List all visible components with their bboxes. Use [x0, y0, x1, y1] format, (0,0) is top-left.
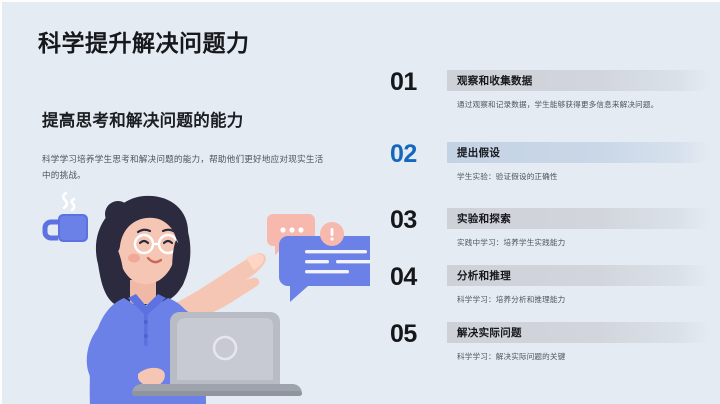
illustration-woman-at-laptop	[20, 188, 370, 404]
item-title-bar: 提出假设	[447, 142, 710, 163]
item-title: 解决实际问题	[457, 325, 522, 340]
item-title-bar: 解决实际问题	[447, 322, 710, 343]
item-description: 实践中学习：培养学生实践能力	[447, 236, 689, 249]
item-description: 科学学习：培养分析和推理能力	[447, 293, 689, 306]
item-body: 提出假设 学生实验：验证假设的正确性	[447, 142, 710, 183]
section-heading: 提高思考和解决问题的能力	[42, 107, 244, 131]
item-body: 分析和推理 科学学习：培养分析和推理能力	[447, 265, 710, 306]
item-body: 观察和收集数据 通过观察和记录数据，学生能够获得更多信息来解决问题。	[447, 70, 710, 111]
item-description: 通过观察和记录数据，学生能够获得更多信息来解决问题。	[447, 98, 689, 111]
item-title-bar: 实验和探索	[447, 208, 710, 229]
slide-canvas: 科学提升解决问题力 提高思考和解决问题的能力 科学学习培养学生思考和解决问题的能…	[0, 0, 720, 404]
item-number: 03	[390, 208, 417, 233]
item-title: 观察和收集数据	[457, 73, 533, 88]
section-body-text: 科学学习培养学生思考和解决问题的能力，帮助他们更好地应对现实生活中的挑战。	[42, 152, 332, 184]
item-number: 04	[390, 265, 417, 290]
item-title-bar: 观察和收集数据	[447, 70, 710, 91]
notification-badge	[320, 222, 344, 246]
item-title: 提出假设	[457, 145, 500, 160]
item-number: 02	[390, 142, 417, 167]
item-body: 解决实际问题 科学学习：解决实际问题的关键	[447, 322, 710, 363]
item-description: 学生实验：验证假设的正确性	[447, 170, 689, 183]
steam-icon	[63, 193, 74, 210]
item-body: 实验和探索 实践中学习：培养学生实践能力	[447, 208, 710, 249]
coffee-mug-icon	[45, 214, 88, 242]
item-description: 科学学习：解决实际问题的关键	[447, 350, 689, 363]
item-title: 实验和探索	[457, 211, 511, 226]
steps-list: 01 观察和收集数据 通过观察和记录数据，学生能够获得更多信息来解决问题。 02…	[390, 60, 710, 400]
item-title-bar: 分析和推理	[447, 265, 710, 286]
item-number: 05	[390, 322, 417, 347]
item-number: 01	[390, 70, 417, 95]
item-title: 分析和推理	[457, 268, 511, 283]
blue-chat-bubble	[279, 236, 370, 302]
slide-title: 科学提升解决问题力	[38, 24, 250, 58]
